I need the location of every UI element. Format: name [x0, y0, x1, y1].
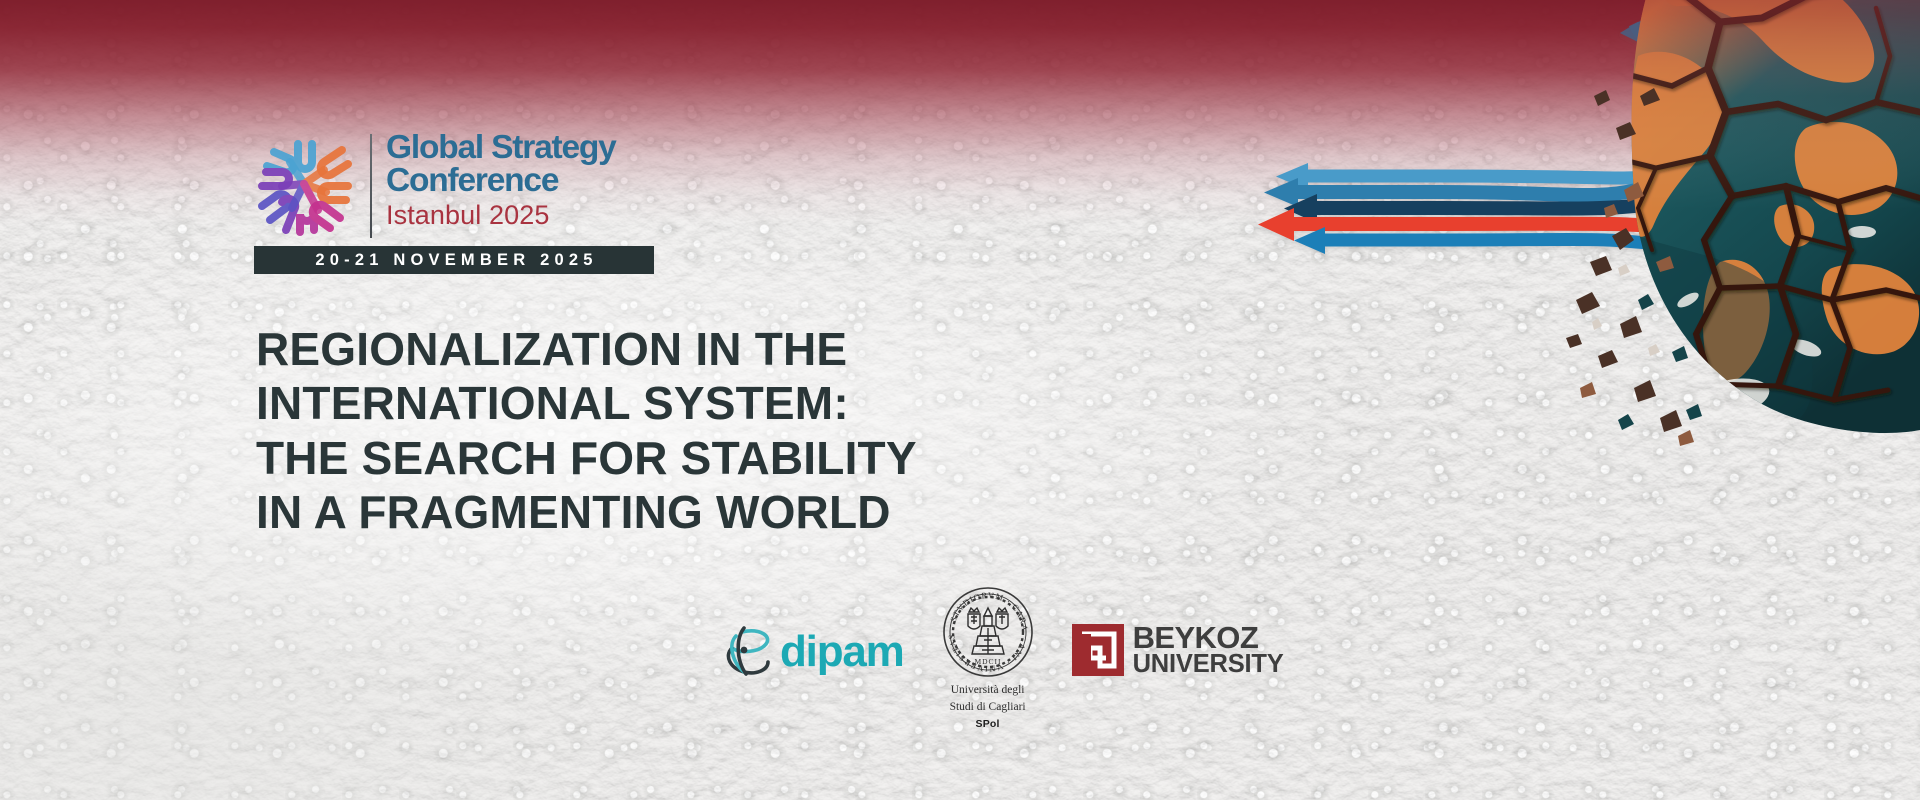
sponsor-logos: dipam STVDIORVM · CARALIT ANI · VNIVERSI…	[722, 584, 1284, 730]
conference-logo-block: Global Strategy Conference Istanbul 2025	[254, 128, 674, 238]
date-bar-text: 20-21 NOVEMBER 2025	[310, 251, 597, 270]
sponsor-beykoz: BEYKOZ UNIVERSITY	[1072, 584, 1284, 677]
logo-wordmark: Global Strategy Conference Istanbul 2025	[386, 128, 616, 232]
dipam-wordmark: dipam	[780, 630, 904, 674]
date-bar: 20-21 NOVEMBER 2025	[254, 246, 654, 274]
beykoz-line-1: BEYKOZ	[1133, 624, 1284, 653]
cracked-globe	[1610, 0, 1920, 440]
title-line-1: REGIONALIZATION IN THE	[256, 322, 917, 376]
cagliari-line-2: Studi di Cagliari	[950, 700, 1026, 714]
sponsor-dipam: dipam	[722, 584, 904, 682]
title-line-4: IN A FRAGMENTING WORLD	[256, 485, 917, 539]
beykoz-spiral-mark	[1072, 624, 1124, 676]
logo-line-2: Conference	[386, 164, 616, 198]
sponsor-cagliari: STVDIORVM · CARALIT ANI · VNIVERSITAS	[940, 584, 1036, 730]
dipam-orbit-icon	[722, 622, 776, 682]
global-strategy-conference-emblem	[254, 132, 356, 236]
page-title: REGIONALIZATION IN THE INTERNATIONAL SYS…	[256, 322, 917, 539]
cagliari-spol: SPol	[976, 718, 1000, 730]
fragmenting-globe-graphic	[1020, 0, 1920, 470]
svg-text:MDCII: MDCII	[974, 657, 1001, 666]
conference-banner: Global Strategy Conference Istanbul 2025…	[0, 0, 1920, 800]
logo-line-1: Global Strategy	[386, 132, 616, 164]
logo-line-3: Istanbul 2025	[386, 200, 616, 232]
cagliari-line-1: Università degli	[951, 683, 1025, 697]
title-line-3: THE SEARCH FOR STABILITY	[256, 431, 917, 485]
cagliari-university-seal: STVDIORVM · CARALIT ANI · VNIVERSITAS	[940, 584, 1036, 680]
title-line-2: INTERNATIONAL SYSTEM:	[256, 376, 917, 430]
logo-divider	[370, 134, 372, 238]
beykoz-line-2: UNIVERSITY	[1133, 653, 1284, 677]
